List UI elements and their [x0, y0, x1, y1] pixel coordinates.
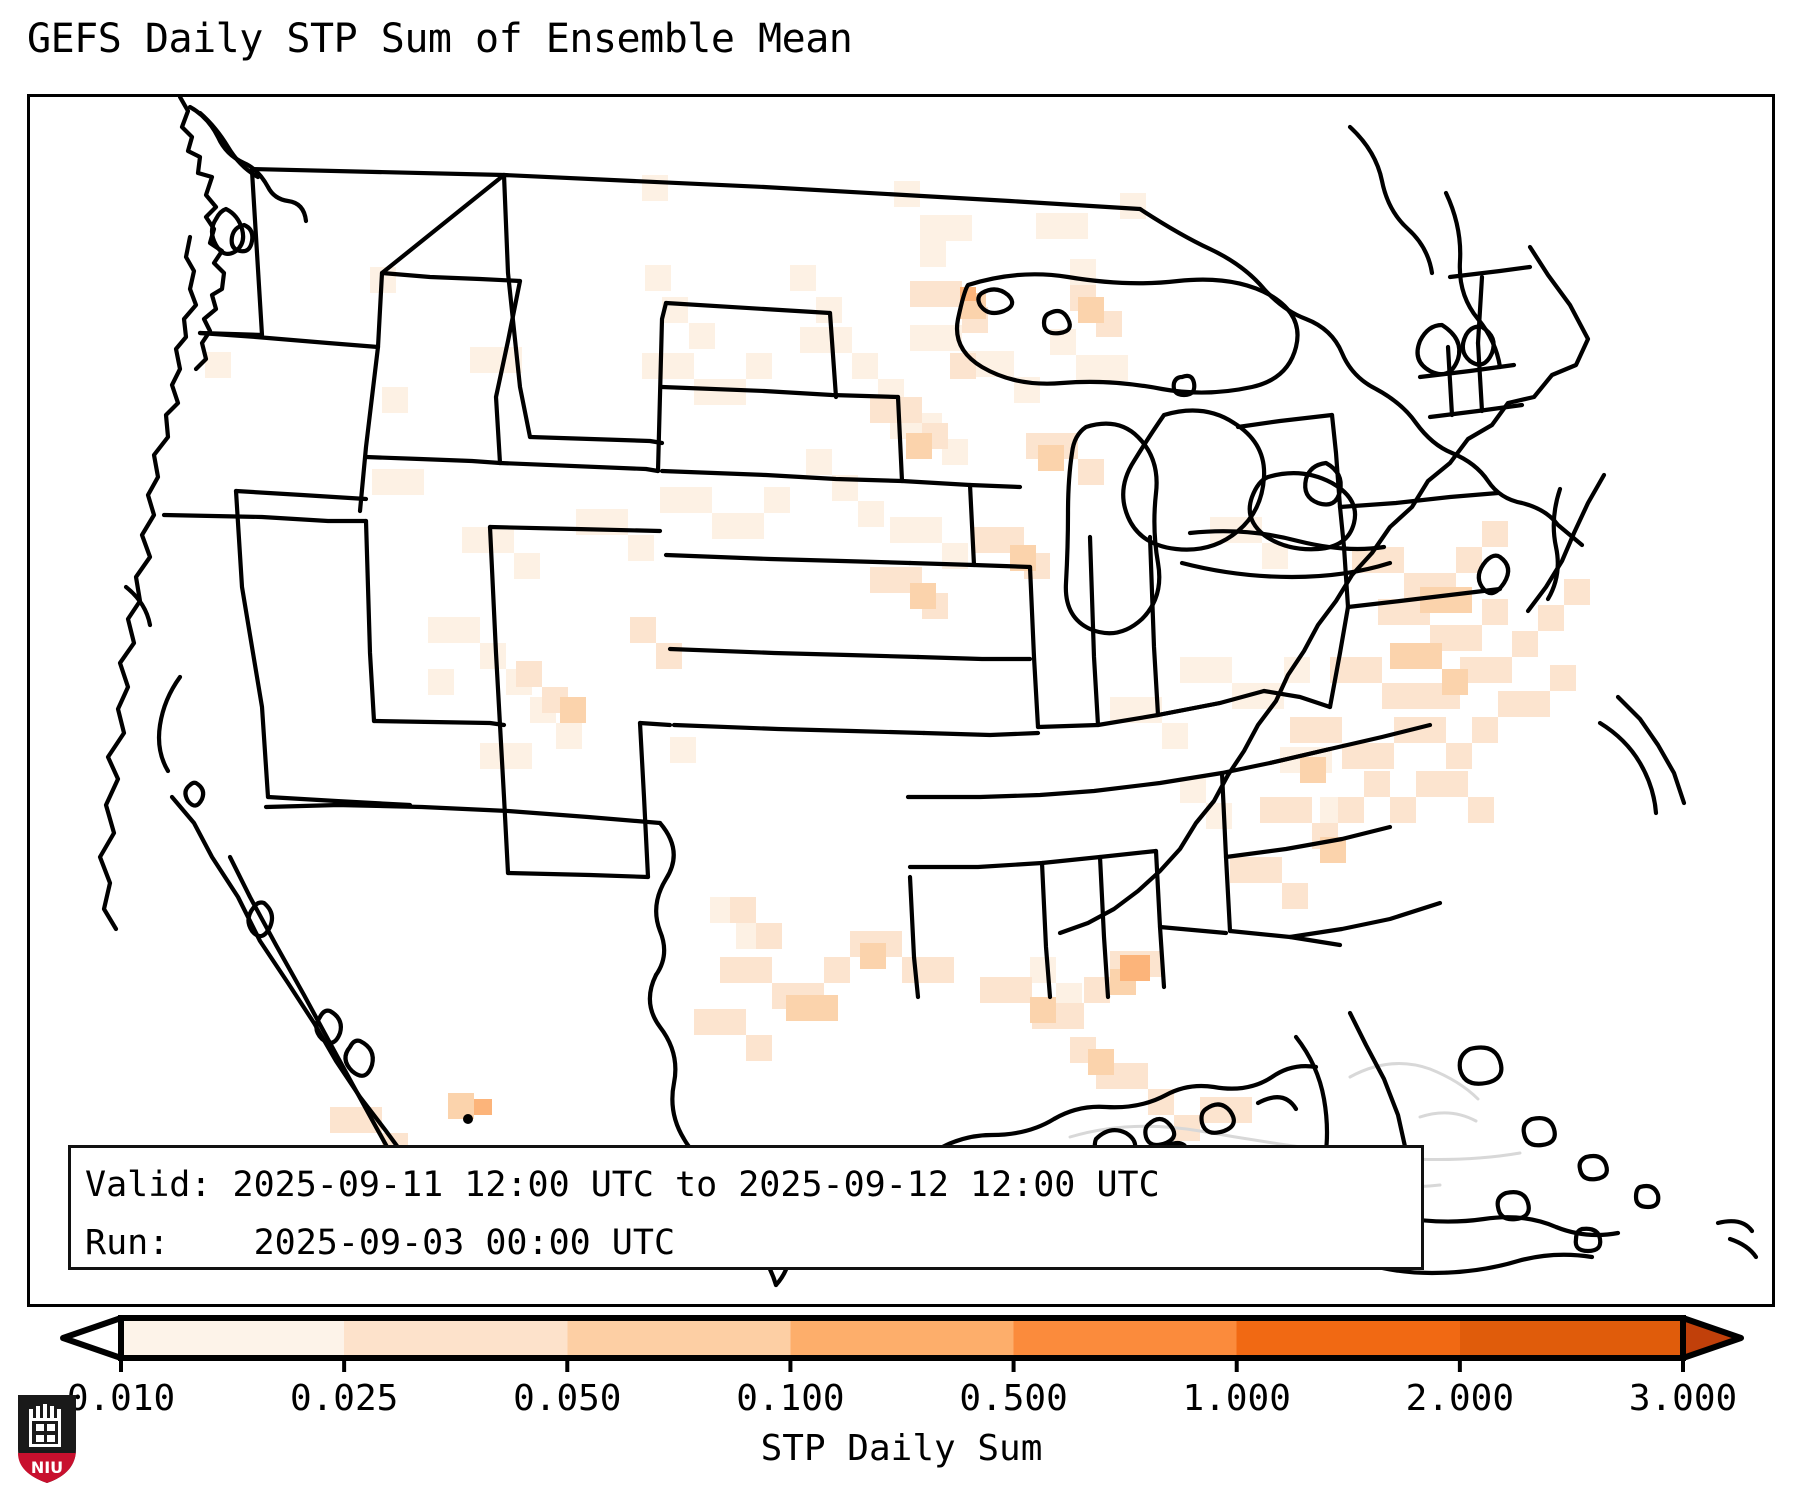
colorbar-tick-label-3: 0.100 [736, 1378, 844, 1419]
colorbar-band-5 [1237, 1318, 1461, 1358]
colorbar-band-1 [344, 1318, 568, 1358]
colorbar-tick-label-1: 0.025 [290, 1378, 398, 1419]
colorbar-band-4 [1014, 1318, 1238, 1358]
colorbar-band-2 [567, 1318, 791, 1358]
colorbar-band-6 [1460, 1318, 1684, 1358]
colorbar-over-arrow [1683, 1318, 1741, 1358]
colorbar-tick-label-4: 0.500 [959, 1378, 1067, 1419]
valid-time-line: Valid: 2025-09-11 12:00 UTC to 2025-09-1… [85, 1156, 1421, 1214]
map-panel[interactable] [27, 94, 1775, 1307]
page-title: GEFS Daily STP Sum of Ensemble Mean [27, 16, 852, 62]
colorbar-tick-label-2: 0.050 [513, 1378, 621, 1419]
colorbar-bands [121, 1318, 1684, 1358]
colorbar-under-arrow [63, 1318, 121, 1358]
niu-shield-logo: NIU [16, 1393, 78, 1485]
colorbar-tick-label-6: 2.000 [1406, 1378, 1514, 1419]
colorbar[interactable] [27, 1312, 1775, 1372]
colorbar-tick-label-0: 0.010 [67, 1378, 175, 1419]
station-marker-dot [463, 1114, 473, 1124]
colorbar-axis-label: STP Daily Sum [0, 1428, 1803, 1469]
colorbar-tick-label-7: 3.000 [1629, 1378, 1737, 1419]
colorbar-band-3 [790, 1318, 1014, 1358]
colorbar-tick-label-5: 1.000 [1183, 1378, 1291, 1419]
colorbar-band-0 [121, 1318, 345, 1358]
map-canvas [30, 97, 1772, 1304]
run-time-line: Run: 2025-09-03 00:00 UTC [85, 1214, 1421, 1272]
info-box: Valid: 2025-09-11 12:00 UTC to 2025-09-1… [68, 1145, 1424, 1270]
niu-logo-text: NIU [31, 1458, 63, 1477]
